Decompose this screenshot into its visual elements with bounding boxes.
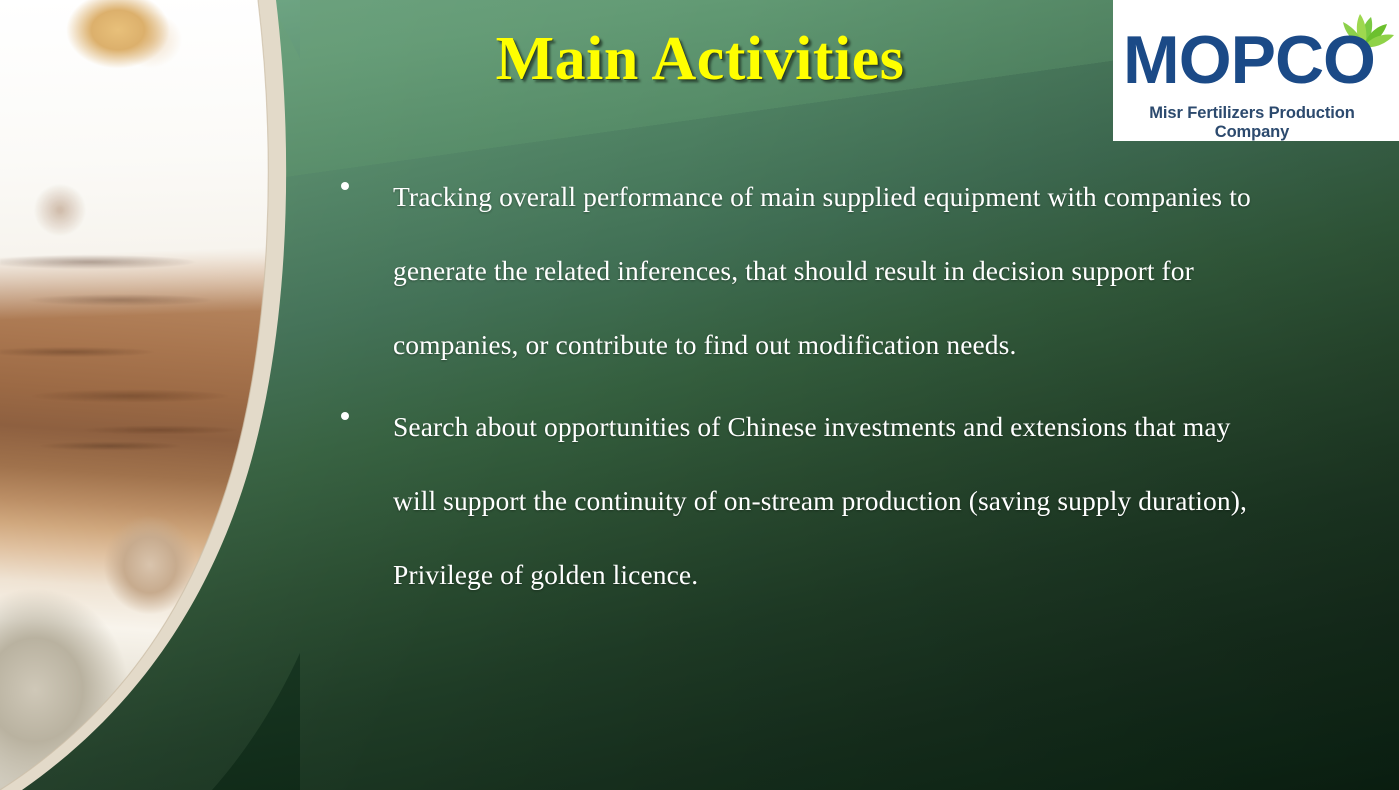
list-item-text: Tracking overall performance of main sup…: [393, 160, 1270, 382]
page-title: Main Activities: [300, 24, 1100, 95]
logo-wordmark: MOPCO: [1121, 26, 1377, 94]
hands-photo-detail: [0, 0, 300, 790]
presentation-slide: Main Activities MOPCO Misr Fertilizers P…: [0, 0, 1399, 790]
photo-clip: [0, 0, 300, 790]
mopco-logo: MOPCO Misr Fertilizers Production Compan…: [1113, 0, 1399, 141]
bullet-marker-icon: [341, 182, 349, 190]
logo-tagline: Misr Fertilizers Production Company: [1113, 104, 1391, 141]
list-item: Tracking overall performance of main sup…: [330, 160, 1270, 382]
bullet-marker-icon: [341, 412, 349, 420]
photo-panel: [0, 0, 300, 790]
bullet-list: Tracking overall performance of main sup…: [330, 160, 1270, 620]
list-item: Search about opportunities of Chinese in…: [330, 390, 1270, 612]
list-item-text: Search about opportunities of Chinese in…: [393, 390, 1270, 612]
